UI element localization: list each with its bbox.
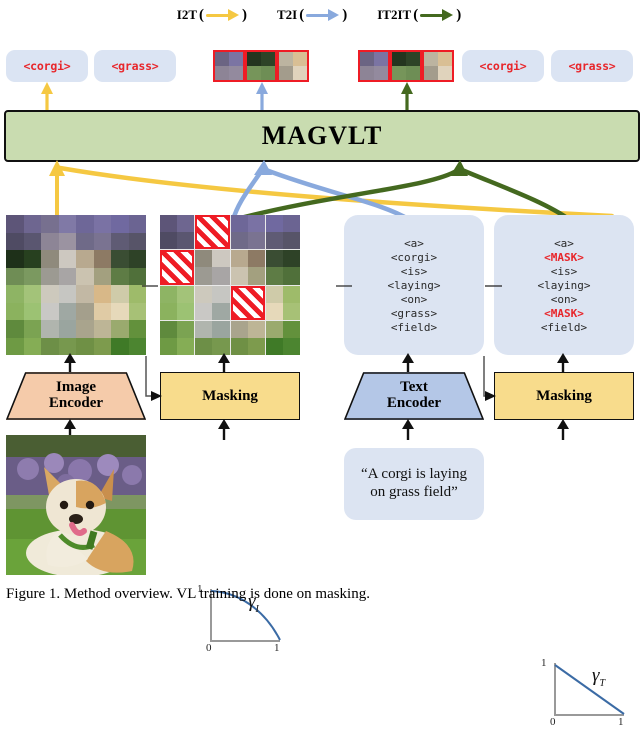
image-token-cell <box>390 50 422 82</box>
legend-label-t2i: T2I <box>277 7 297 23</box>
legend-paren-open: ( <box>199 7 204 24</box>
text-token: <a> <box>554 237 574 250</box>
text-token: <is> <box>551 265 578 278</box>
figure-caption: Figure 1. Method overview. VL training i… <box>6 586 634 603</box>
arrow-legend: I2T ( ) T2I ( ) IT2IT ( ) <box>0 2 640 28</box>
magvlt-model-block: MAGVLT <box>4 110 640 162</box>
text-token: <on> <box>401 293 428 306</box>
image-token-cell <box>266 215 300 249</box>
text-token: <is> <box>401 265 428 278</box>
legend-label-it2it: IT2IT <box>377 7 411 23</box>
image-token-cell <box>277 50 309 82</box>
masked-text-token-panel: <a> <MASK> <is> <laying> <on> <MASK> <fi… <box>494 215 634 355</box>
image-token-cell <box>245 50 277 82</box>
image-token-cell <box>231 321 265 355</box>
image-token-cell <box>266 321 300 355</box>
source-caption-box: “A corgi is laying on grass field” <box>344 448 484 520</box>
output-text-token-corgi-left: <corgi> <box>6 50 88 82</box>
legend-paren-open: ( <box>413 7 418 24</box>
output-image-token-strip-left <box>213 50 309 82</box>
legend-paren-open: ( <box>299 7 304 24</box>
image-token-cell <box>160 321 194 355</box>
text-token: <grass> <box>391 307 437 320</box>
gamma-t-plot: 1 0 1 γT <box>540 657 636 731</box>
input-to-model-arrows <box>0 158 640 220</box>
output-image-token-strip-right <box>358 50 454 82</box>
legend-item-i2t: I2T ( ) <box>177 7 249 24</box>
legend-label-i2t: I2T <box>177 7 197 23</box>
output-connectors <box>0 82 640 112</box>
image-token-cell <box>213 50 245 82</box>
output-text-token-grass-left: <grass> <box>94 50 176 82</box>
output-text-token-corgi-right: <corgi> <box>462 50 544 82</box>
mask-text-token: <MASK> <box>544 251 584 264</box>
masked-image-token-cell <box>195 215 229 249</box>
source-photo-corgi <box>6 435 146 575</box>
gamma-subscript: T <box>600 678 606 689</box>
mask-text-token: <MASK> <box>544 307 584 320</box>
gamma-subscript: I <box>256 604 259 615</box>
legend-paren-close: ) <box>242 7 247 24</box>
text-token: <field> <box>541 321 587 334</box>
image-token-cell <box>422 50 454 82</box>
encoder-to-masking-connectors <box>0 352 640 420</box>
legend-paren-close: ) <box>456 7 461 24</box>
image-token-cell <box>231 215 265 249</box>
image-token-grid <box>6 215 146 355</box>
output-text-token-grass-right: <grass> <box>551 50 633 82</box>
text-token: <field> <box>391 321 437 334</box>
gamma-symbol: γ <box>592 665 600 686</box>
legend-paren-close: ) <box>342 7 347 24</box>
legend-item-t2i: T2I ( ) <box>277 7 349 24</box>
text-token: <laying> <box>538 279 591 292</box>
image-token-cell <box>195 321 229 355</box>
text-token: <a> <box>404 237 424 250</box>
pair-tie-lines <box>140 280 510 292</box>
it2it-arrow-icon <box>420 9 454 21</box>
text-token: <on> <box>551 293 578 306</box>
t2i-arrow-icon <box>306 9 340 21</box>
legend-item-it2it: IT2IT ( ) <box>377 7 463 24</box>
image-token-cell <box>160 215 194 249</box>
i2t-arrow-icon <box>206 9 240 21</box>
image-token-cell <box>358 50 390 82</box>
text-token: <corgi> <box>391 251 437 264</box>
gamma-t-label: γT <box>592 665 605 689</box>
